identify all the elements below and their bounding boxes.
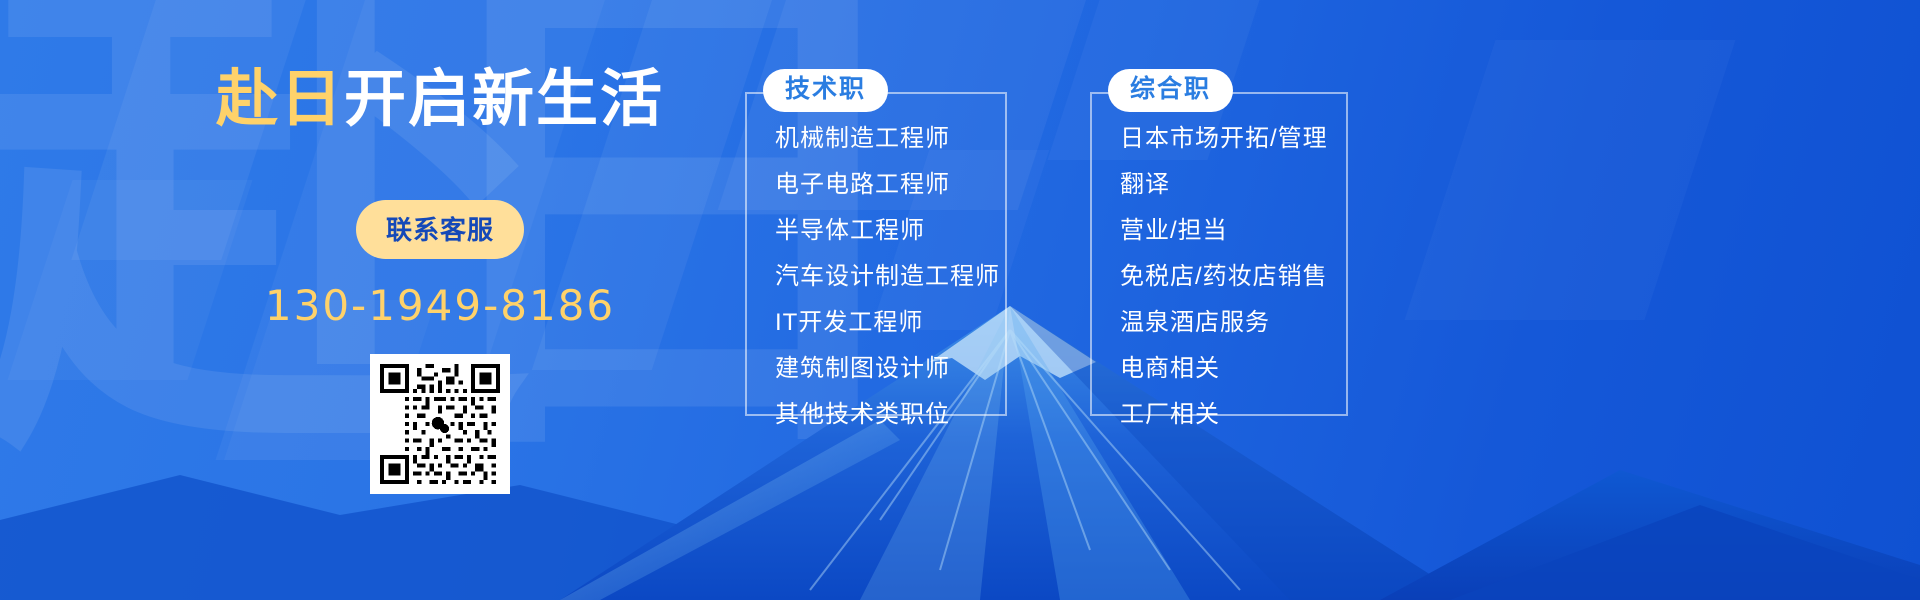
list-item[interactable]: 建筑制图设计师 bbox=[775, 346, 1005, 392]
left-content-column: 赴日开启新生活 联系客服 130-1949-8186 bbox=[180, 30, 700, 499]
panel-top-border: 综合职 bbox=[1090, 92, 1348, 94]
headline-plain: 开启新生活 bbox=[344, 65, 664, 134]
list-item[interactable]: 电商相关 bbox=[1120, 346, 1346, 392]
list-item[interactable]: 汽车设计制造工程师 bbox=[775, 254, 1005, 300]
job-list-technical: 机械制造工程师 电子电路工程师 半导体工程师 汽车设计制造工程师 IT开发工程师… bbox=[747, 94, 1005, 462]
panel-badge-technical[interactable]: 技术职 bbox=[763, 69, 888, 112]
list-item[interactable]: 免税店/药妆店销售 bbox=[1120, 254, 1346, 300]
panel-body-technical: 机械制造工程师 电子电路工程师 半导体工程师 汽车设计制造工程师 IT开发工程师… bbox=[745, 94, 1007, 416]
page-title: 赴日开启新生活 bbox=[180, 48, 700, 138]
list-item[interactable]: 温泉酒店服务 bbox=[1120, 300, 1346, 346]
list-item[interactable]: 营业/担当 bbox=[1120, 208, 1346, 254]
list-item[interactable]: 工厂相关 bbox=[1120, 392, 1346, 438]
contact-support-button[interactable]: 联系客服 bbox=[356, 200, 524, 259]
list-item[interactable]: 其他技术类职位 bbox=[775, 392, 1005, 438]
job-panel-general: 综合职 日本市场开拓/管理 翻译 营业/担当 免税店/药妆店销售 温泉酒店服务 … bbox=[1090, 92, 1348, 416]
list-item[interactable]: 日本市场开拓/管理 bbox=[1120, 116, 1346, 162]
qr-code-icon bbox=[380, 364, 500, 484]
panel-top-border: 技术职 bbox=[745, 92, 1007, 94]
list-item[interactable]: IT开发工程师 bbox=[775, 300, 1005, 346]
list-item[interactable]: 半导体工程师 bbox=[775, 208, 1005, 254]
list-item[interactable]: 机械制造工程师 bbox=[775, 116, 1005, 162]
job-list-general: 日本市场开拓/管理 翻译 营业/担当 免税店/药妆店销售 温泉酒店服务 电商相关… bbox=[1092, 94, 1346, 462]
panel-badge-general[interactable]: 综合职 bbox=[1108, 69, 1233, 112]
job-panel-technical: 技术职 机械制造工程师 电子电路工程师 半导体工程师 汽车设计制造工程师 IT开… bbox=[745, 92, 1007, 416]
panel-body-general: 日本市场开拓/管理 翻译 营业/担当 免税店/药妆店销售 温泉酒店服务 电商相关… bbox=[1090, 94, 1348, 416]
list-item[interactable]: 翻译 bbox=[1120, 162, 1346, 208]
phone-number[interactable]: 130-1949-8186 bbox=[180, 281, 700, 330]
wechat-qr-code[interactable] bbox=[370, 354, 510, 494]
headline-accent: 赴日 bbox=[216, 65, 344, 134]
recruitment-banner: 赴 日 bbox=[0, 0, 1920, 600]
list-item[interactable]: 电子电路工程师 bbox=[775, 162, 1005, 208]
